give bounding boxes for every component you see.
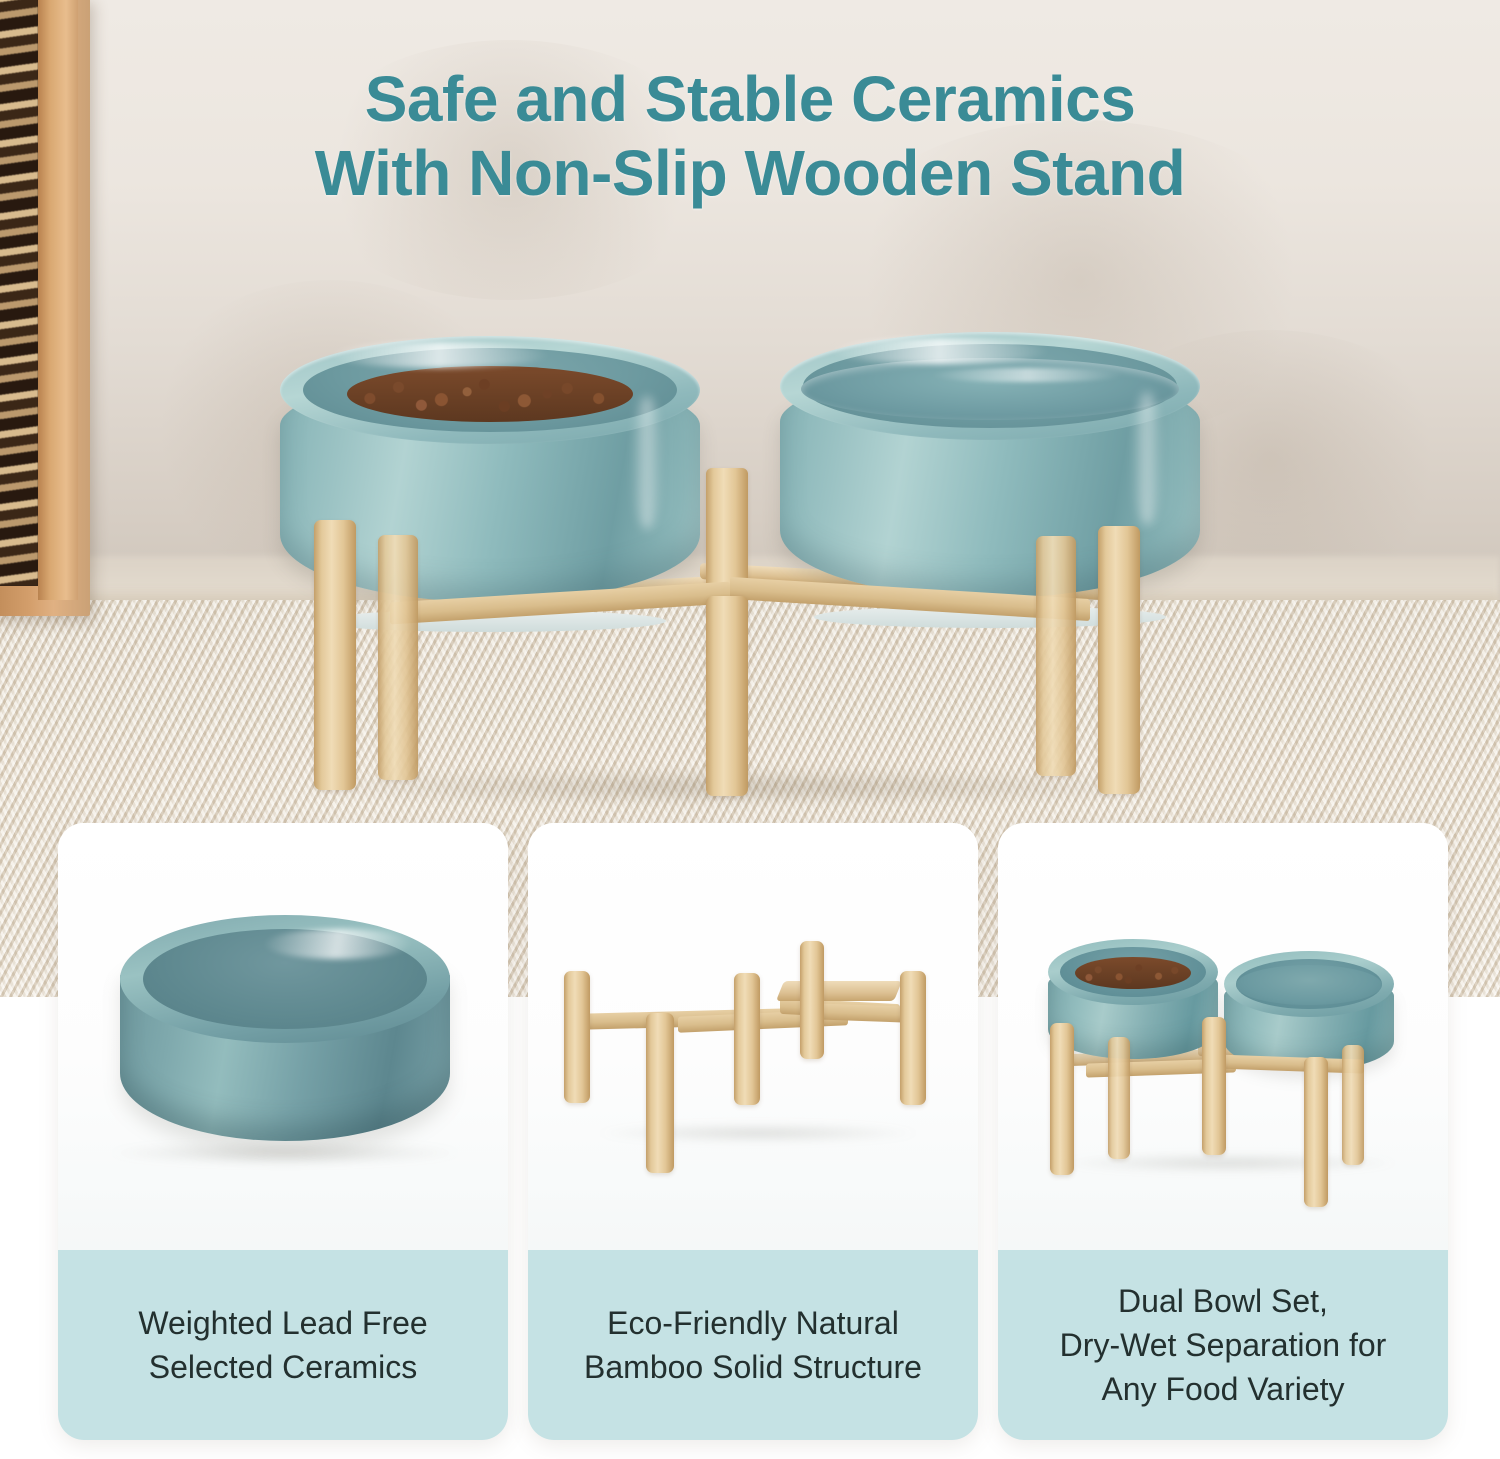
feature-card-bamboo[interactable]: Eco-Friendly Natural Bamboo Solid Struct… [528,823,978,1440]
card-caption-panel: Eco-Friendly Natural Bamboo Solid Struct… [528,1250,978,1440]
feature-card-ceramics[interactable]: Weighted Lead Free Selected Ceramics [58,823,508,1440]
stand-leg-2 [646,1013,674,1173]
card-caption-text: Dual Bowl Set, Dry-Wet Separation for An… [1044,1279,1403,1411]
single-ceramic-bowl [120,915,450,1157]
bowl-highlight [265,929,410,959]
page-title: Safe and Stable Ceramics With Non-Slip W… [0,62,1500,210]
card-photo-dual-bowl-set [998,823,1448,1250]
kibble-food [347,366,633,422]
feature-card-dual-set[interactable]: Dual Bowl Set, Dry-Wet Separation for An… [998,823,1448,1440]
water-highlight [931,368,1124,382]
stand-leg-4 [800,941,824,1059]
title-line-1: Safe and Stable Ceramics [365,63,1136,135]
bamboo-stand-frame [528,823,978,1250]
stand-leg-back-left [378,535,418,780]
water-surface [1236,965,1382,1005]
stand-leg-1 [564,971,590,1103]
card-caption-panel: Dual Bowl Set, Dry-Wet Separation for An… [998,1250,1448,1440]
card-photo-bamboo-stand [528,823,978,1250]
stand-leg-front-right [1304,1057,1328,1207]
kibble-food [1075,957,1191,989]
card-photo-single-bowl [58,823,508,1250]
stand-center-leg [706,596,748,796]
stand-leg-front-right [1098,526,1140,794]
stand-leg-3 [734,973,760,1105]
hero-product [270,330,1230,800]
stand-leg-center [1202,1017,1226,1155]
stand-leg-front-left [1050,1023,1074,1175]
dual-bowl-set [998,823,1448,1250]
stand-leg-back-left [1108,1037,1130,1159]
card-caption-text: Weighted Lead Free Selected Ceramics [122,1301,443,1389]
stand-leg-back-right [1036,536,1076,776]
stand-leg-back-right [1342,1045,1364,1165]
bowl-highlight [330,342,548,368]
title-line-2: With Non-Slip Wooden Stand [0,136,1500,210]
water-surface [801,358,1179,420]
stand-leg-front-left [314,520,356,790]
stand-corner-gusset [776,981,902,1001]
card-caption-text: Eco-Friendly Natural Bamboo Solid Struct… [568,1301,938,1389]
bowl-highlight [830,338,1048,364]
stand-leg-5 [900,971,926,1105]
card-caption-panel: Weighted Lead Free Selected Ceramics [58,1250,508,1440]
